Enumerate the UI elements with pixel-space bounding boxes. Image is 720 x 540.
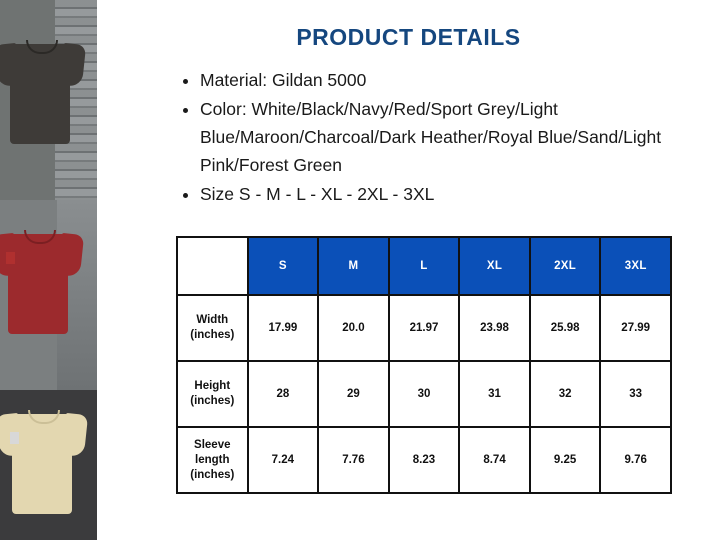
neck-tag-icon <box>10 432 19 444</box>
table-row: Sleeve length (inches) 7.24 7.76 8.23 8.… <box>177 427 671 493</box>
cell-height-3xl: 33 <box>600 361 671 427</box>
row-header-height-line2: (inches) <box>178 394 247 409</box>
sand-tshirt-photo <box>0 390 97 540</box>
list-item: Material: Gildan 5000 <box>200 66 688 94</box>
red-tshirt-icon <box>0 224 82 336</box>
dark-grey-tshirt-photo <box>0 0 97 200</box>
product-photo-column <box>0 0 97 540</box>
row-header-width-line2: (inches) <box>178 328 247 343</box>
cell-height-l: 30 <box>389 361 460 427</box>
size-chart-table: S M L XL 2XL 3XL Width (inches) 17.99 20… <box>176 236 672 494</box>
cell-width-l: 21.97 <box>389 295 460 361</box>
row-header-sleeve-line3: (inches) <box>178 468 247 483</box>
column-header-2xl: 2XL <box>530 237 601 295</box>
cell-width-2xl: 25.98 <box>530 295 601 361</box>
cell-height-xl: 31 <box>459 361 530 427</box>
neck-tag-icon <box>6 252 15 264</box>
cell-width-3xl: 27.99 <box>600 295 671 361</box>
table-header-row: S M L XL 2XL 3XL <box>177 237 671 295</box>
row-header-height: Height (inches) <box>177 361 248 427</box>
column-header-l: L <box>389 237 460 295</box>
row-header-sleeve-length: Sleeve length (inches) <box>177 427 248 493</box>
column-header-3xl: 3XL <box>600 237 671 295</box>
cell-sleeve-s: 7.24 <box>248 427 319 493</box>
column-header-xl: XL <box>459 237 530 295</box>
cell-sleeve-l: 8.23 <box>389 427 460 493</box>
table-row: Height (inches) 28 29 30 31 32 33 <box>177 361 671 427</box>
dark-grey-tshirt-icon <box>0 34 84 146</box>
list-item: Color: White/Black/Navy/Red/Sport Grey/L… <box>200 95 688 179</box>
cell-height-s: 28 <box>248 361 319 427</box>
cell-sleeve-xl: 8.74 <box>459 427 530 493</box>
product-details-list: Material: Gildan 5000 Color: White/Black… <box>178 66 688 209</box>
cell-sleeve-2xl: 9.25 <box>530 427 601 493</box>
table-row: Width (inches) 17.99 20.0 21.97 23.98 25… <box>177 295 671 361</box>
cell-height-m: 29 <box>318 361 389 427</box>
row-header-sleeve-line2: length <box>178 453 247 468</box>
column-header-m: M <box>318 237 389 295</box>
list-item: Size S - M - L - XL - 2XL - 3XL <box>200 180 688 208</box>
cell-width-s: 17.99 <box>248 295 319 361</box>
sand-tshirt-icon <box>0 404 86 516</box>
cell-sleeve-3xl: 9.76 <box>600 427 671 493</box>
cell-sleeve-m: 7.76 <box>318 427 389 493</box>
red-tshirt-photo <box>0 200 97 390</box>
row-header-sleeve-line1: Sleeve <box>178 438 247 453</box>
cell-width-m: 20.0 <box>318 295 389 361</box>
table-corner-cell <box>177 237 248 295</box>
cell-width-xl: 23.98 <box>459 295 530 361</box>
row-header-width-line1: Width <box>178 313 247 328</box>
page-title: PRODUCT DETAILS <box>97 24 720 51</box>
cell-height-2xl: 32 <box>530 361 601 427</box>
column-header-s: S <box>248 237 319 295</box>
row-header-width: Width (inches) <box>177 295 248 361</box>
row-header-height-line1: Height <box>178 379 247 394</box>
